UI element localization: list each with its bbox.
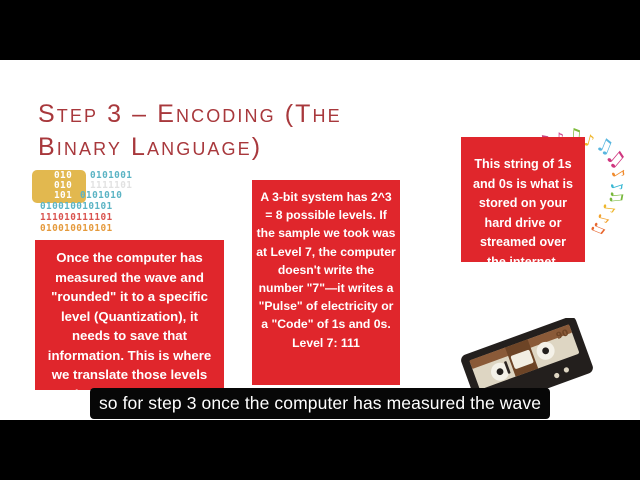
music-note-icon: ♪ xyxy=(593,212,612,225)
music-note-icon: ♪ xyxy=(607,179,626,194)
page-title: Step 3 – Encoding (The Binary Language) xyxy=(38,98,458,164)
storage-box: This string of 1s and 0s is what is stor… xyxy=(461,137,585,262)
music-note-icon: ♫ xyxy=(603,146,628,171)
binary-digit-row: 111010111101 xyxy=(40,213,113,223)
cassette-tape-image: B 90 xyxy=(452,318,602,410)
binary-digit-row: 010010010101 xyxy=(40,202,113,212)
letterbox-top xyxy=(0,0,640,60)
music-note-icon: ♫ xyxy=(593,135,615,157)
music-note-icon: ♫ xyxy=(589,219,610,239)
video-frame: Step 3 – Encoding (The Binary Language) … xyxy=(0,0,640,480)
binary-code-image: 010 010 101 0101001111110101010100100100… xyxy=(32,168,148,234)
music-note-icon: ♪ xyxy=(600,203,618,215)
binary-chip-digits: 010 010 101 xyxy=(54,171,72,202)
music-note-icon: ♪ xyxy=(607,165,627,183)
cassette-svg: B 90 xyxy=(452,318,602,410)
quantization-box: Once the computer has measured the wave … xyxy=(35,240,224,390)
music-note-icon: ♫ xyxy=(606,188,625,205)
binary-digit-row: 0101010 xyxy=(80,191,122,201)
binary-digit-row: 010010010101 xyxy=(40,224,113,234)
slide-canvas: Step 3 – Encoding (The Binary Language) … xyxy=(0,60,640,420)
letterbox-bottom xyxy=(0,420,640,480)
three-bit-box: A 3-bit system has 2^3 = 8 possible leve… xyxy=(252,180,400,385)
